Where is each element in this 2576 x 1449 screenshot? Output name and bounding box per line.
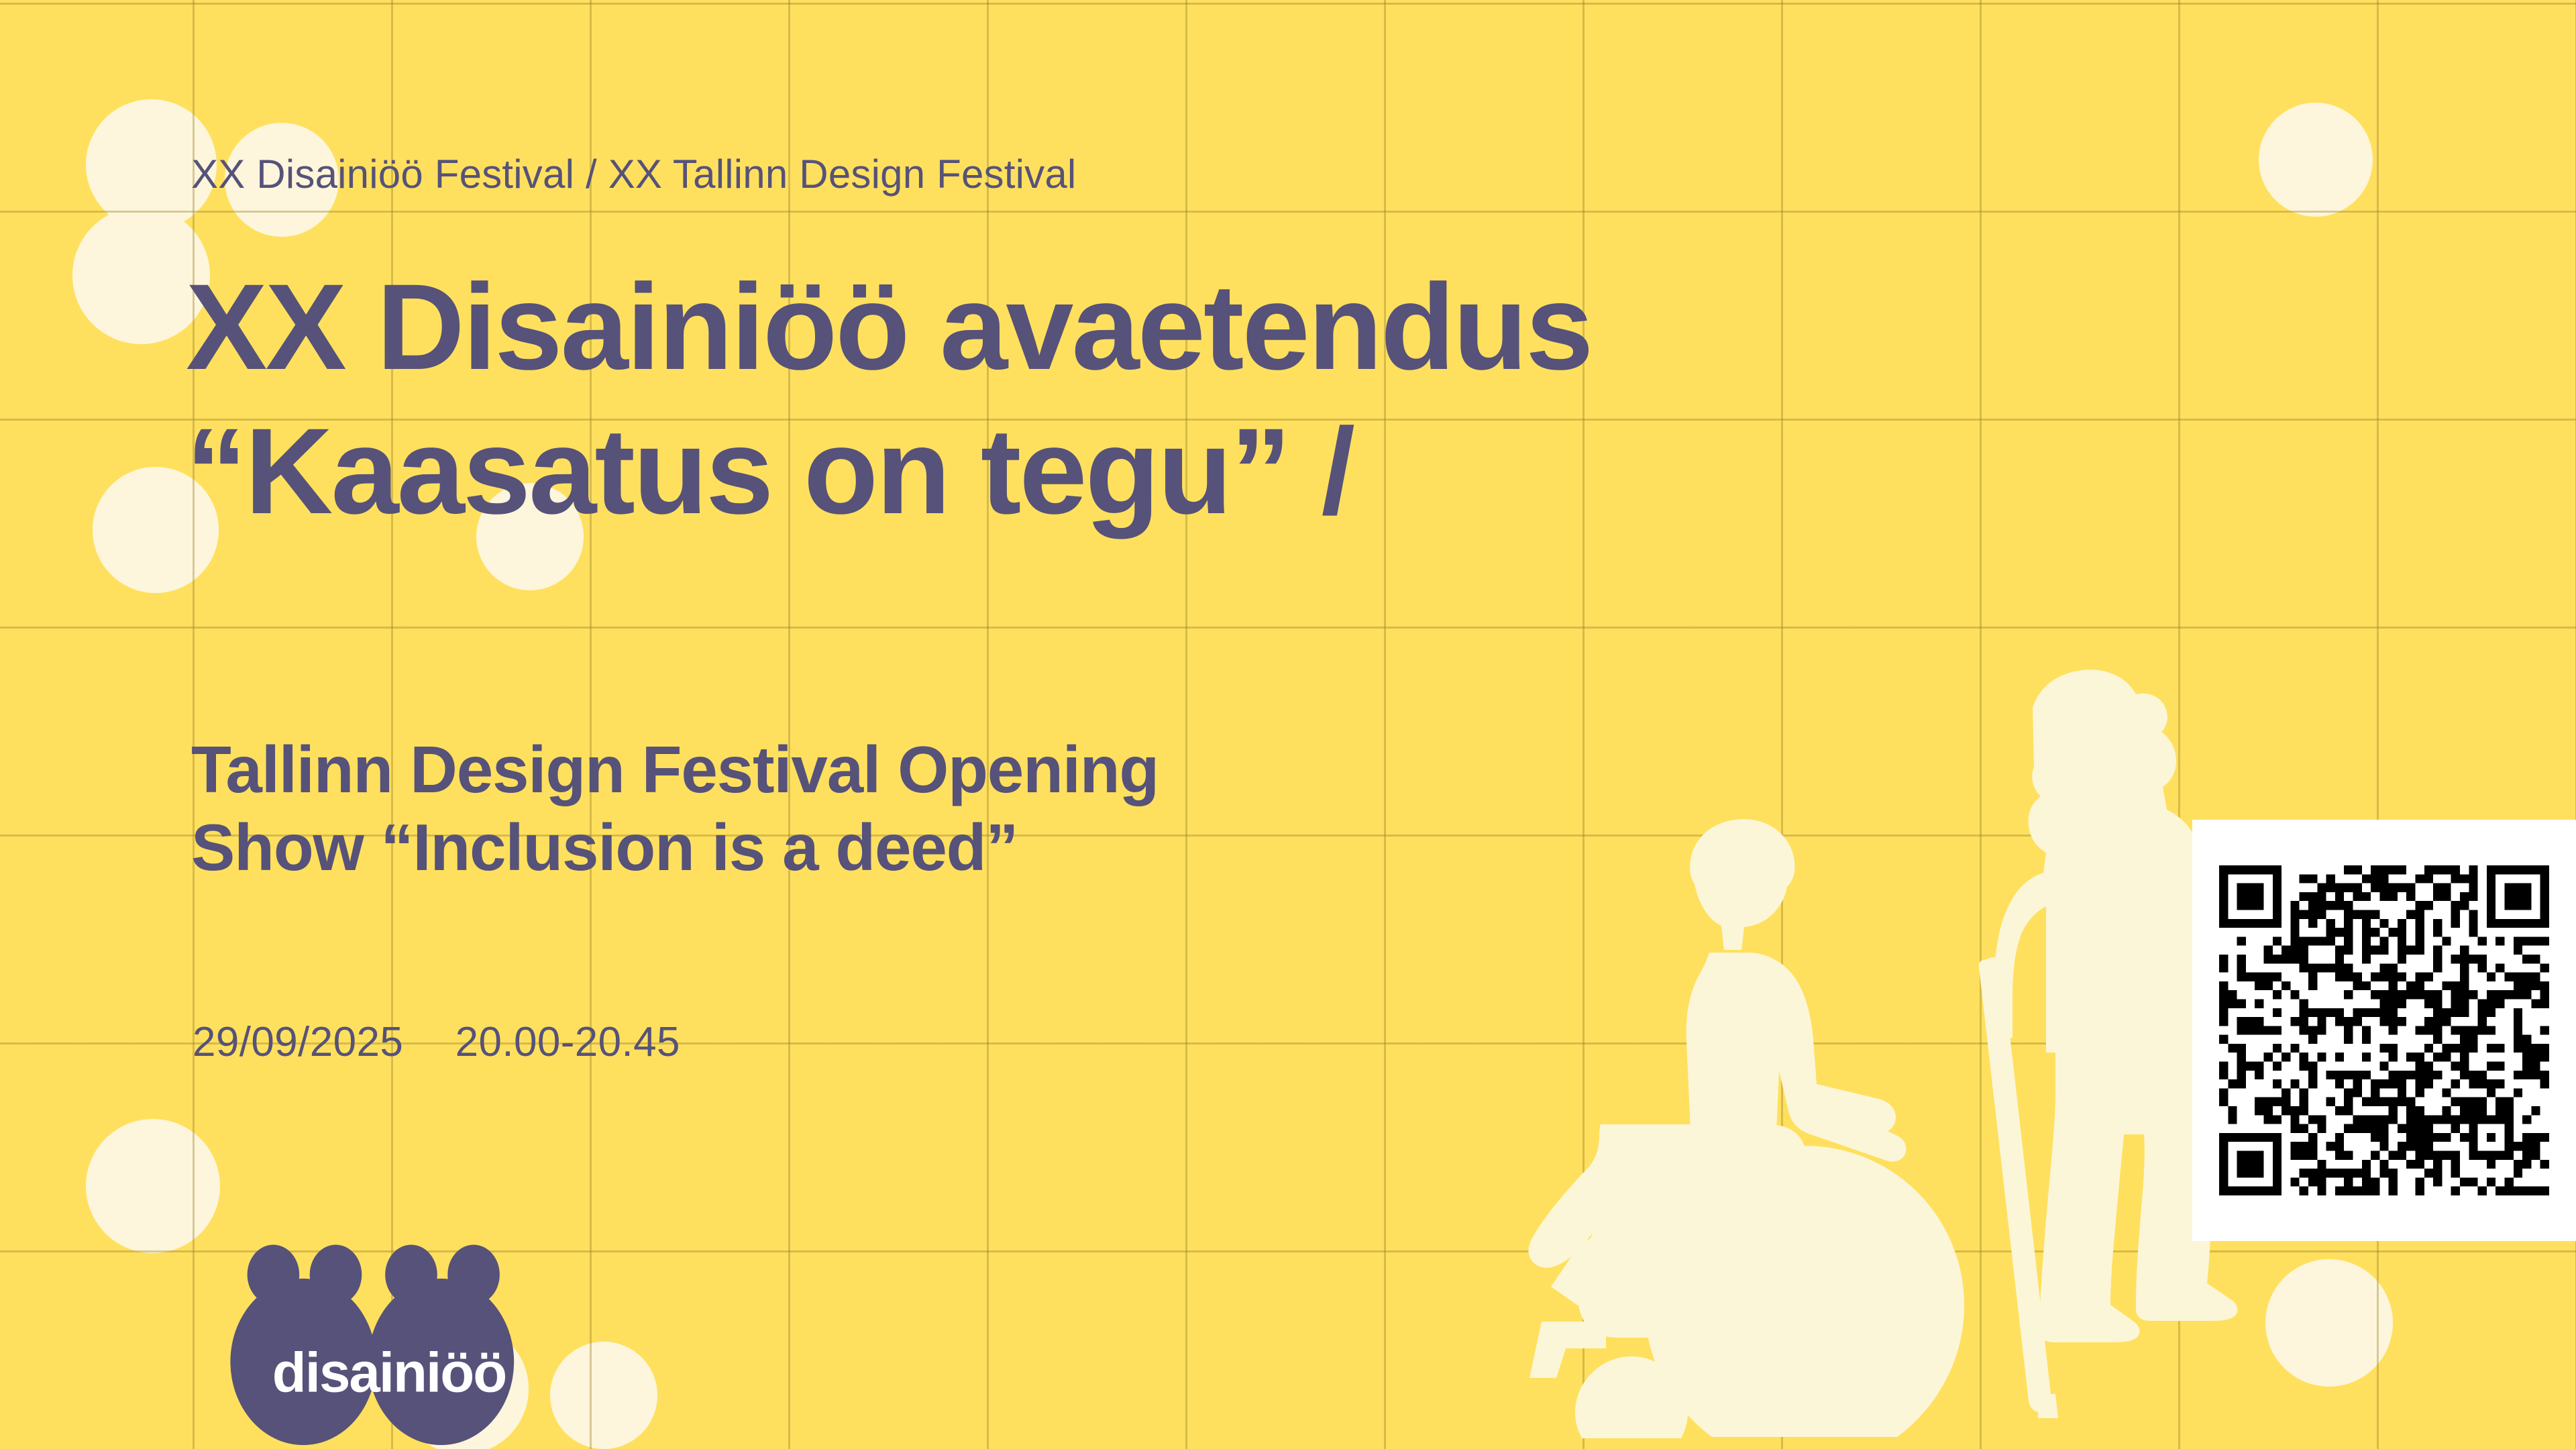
qr-code-panel[interactable] (2192, 820, 2576, 1241)
qr-code[interactable] (2219, 865, 2549, 1195)
decorative-circle (2259, 103, 2373, 217)
poster-content: XX Disainiöö Festival / XX Tallinn Desig… (191, 0, 2204, 1449)
logo-wordmark: disainiöö (272, 1342, 506, 1404)
logo-circle (248, 1245, 300, 1305)
headline-line-1: XX Disainiöö avaetendus (186, 255, 1591, 399)
kicker-text: XX Disainiöö Festival / XX Tallinn Desig… (191, 151, 1076, 197)
disainioo-logo[interactable]: disainiöö (201, 1234, 577, 1449)
logo-circle (385, 1245, 437, 1305)
logo-circle (310, 1245, 362, 1305)
event-datetime: 29/09/2025 20.00-20.45 (193, 1018, 680, 1066)
event-time: 20.00-20.45 (455, 1019, 680, 1065)
subtitle: Tallinn Design Festival Opening Show “In… (191, 731, 1159, 886)
event-date: 29/09/2025 (193, 1019, 403, 1065)
logo-circle (447, 1245, 500, 1305)
subtitle-line-1: Tallinn Design Festival Opening (191, 731, 1159, 809)
decorative-circle (2265, 1259, 2393, 1387)
subtitle-line-2: Show “Inclusion is a deed” (191, 809, 1159, 887)
headline-line-2: “Kaasatus on tegu” / (186, 399, 1591, 543)
page-title: XX Disainiöö avaetendus “Kaasatus on teg… (186, 255, 1591, 543)
